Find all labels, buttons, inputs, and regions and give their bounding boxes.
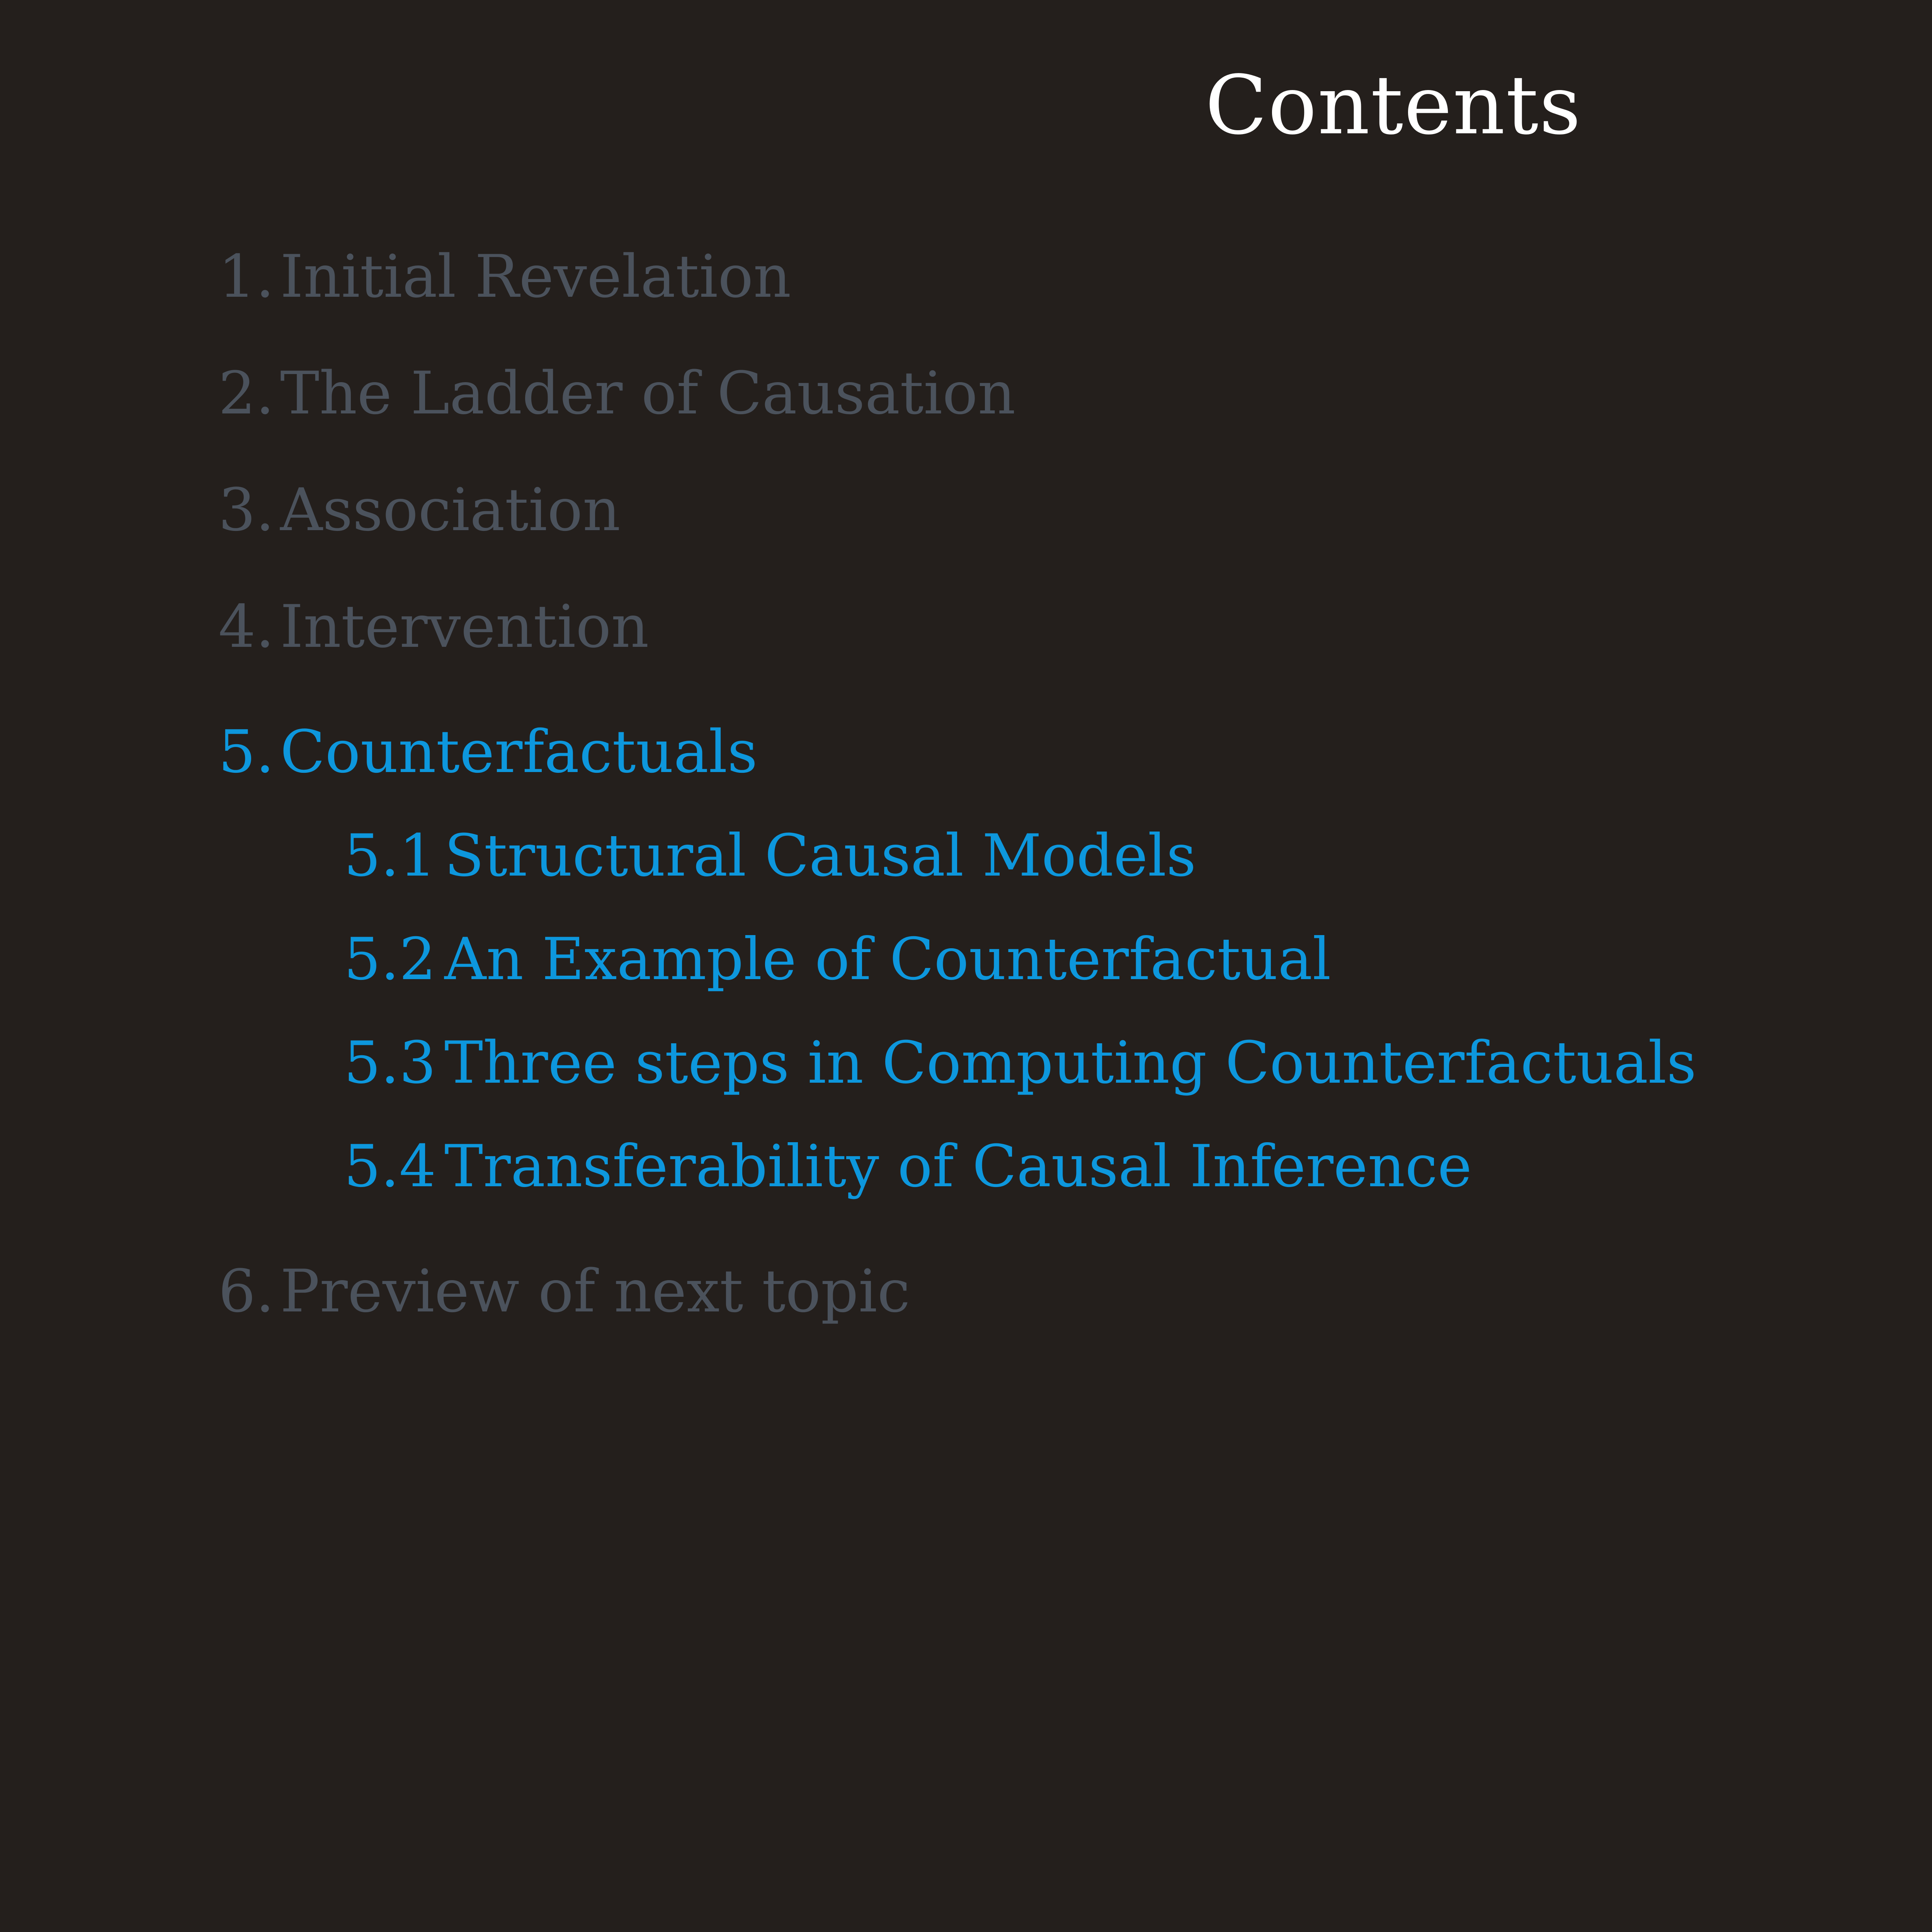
toc-label: The Ladder of Causation (280, 364, 1015, 423)
toc-entry-4[interactable]: 4. Intervention (0, 597, 1932, 656)
toc-number: 5. (218, 723, 280, 781)
spacer (0, 1196, 1932, 1262)
toc-label: Initial Revelation (280, 247, 791, 306)
toc-sub-label: Transferability of Causal Inference (444, 1138, 1472, 1196)
page-title: Contents (0, 58, 1932, 153)
spacer (0, 885, 1932, 930)
spacer (0, 781, 1932, 827)
toc-sub-number: 5.4 (344, 1138, 444, 1196)
toc-entry-3[interactable]: 3. Association (0, 481, 1932, 539)
toc-number: 3. (218, 481, 280, 539)
toc-entry-1[interactable]: 1. Initial Revelation (0, 247, 1932, 306)
spacer (0, 423, 1932, 481)
toc-sub-label: Three steps in Computing Counterfactuals (444, 1034, 1696, 1092)
toc-subentry-5-1[interactable]: 5.1 Structural Causal Models (0, 827, 1932, 885)
toc-label: Preview of next topic (280, 1262, 910, 1321)
toc-number: 4. (218, 597, 280, 656)
toc-number: 6. (218, 1262, 280, 1321)
toc-label: Intervention (280, 597, 649, 656)
toc-sub-label: Structural Causal Models (444, 827, 1196, 885)
toc-entry-6[interactable]: 6. Preview of next topic (0, 1262, 1932, 1321)
toc-number: 1. (218, 247, 280, 306)
spacer (0, 539, 1932, 597)
toc-entry-2[interactable]: 2. The Ladder of Causation (0, 364, 1932, 423)
toc-label: Association (280, 481, 621, 539)
toc-number: 2. (218, 364, 280, 423)
toc-sub-label: An Example of Counterfactual (444, 930, 1331, 988)
toc-subentry-5-2[interactable]: 5.2 An Example of Counterfactual (0, 930, 1932, 988)
toc-sub-number: 5.2 (344, 930, 444, 988)
spacer (0, 988, 1932, 1034)
toc-label: Counterfactuals (280, 723, 758, 781)
toc-sub-number: 5.1 (344, 827, 444, 885)
toc-subentry-5-3[interactable]: 5.3 Three steps in Computing Counterfact… (0, 1034, 1932, 1092)
spacer (0, 306, 1932, 364)
toc-sub-number: 5.3 (344, 1034, 444, 1092)
beamer-slide: Contents 1. Initial Revelation 2. Th (0, 0, 1932, 1932)
spacer (0, 1092, 1932, 1138)
toc-entry-5[interactable]: 5. Counterfactuals (0, 723, 1932, 781)
spacer (0, 656, 1932, 723)
toc-subentry-5-4[interactable]: 5.4 Transferability of Causal Inference (0, 1138, 1932, 1196)
table-of-contents: 1. Initial Revelation 2. The Ladder of C… (0, 247, 1932, 1321)
